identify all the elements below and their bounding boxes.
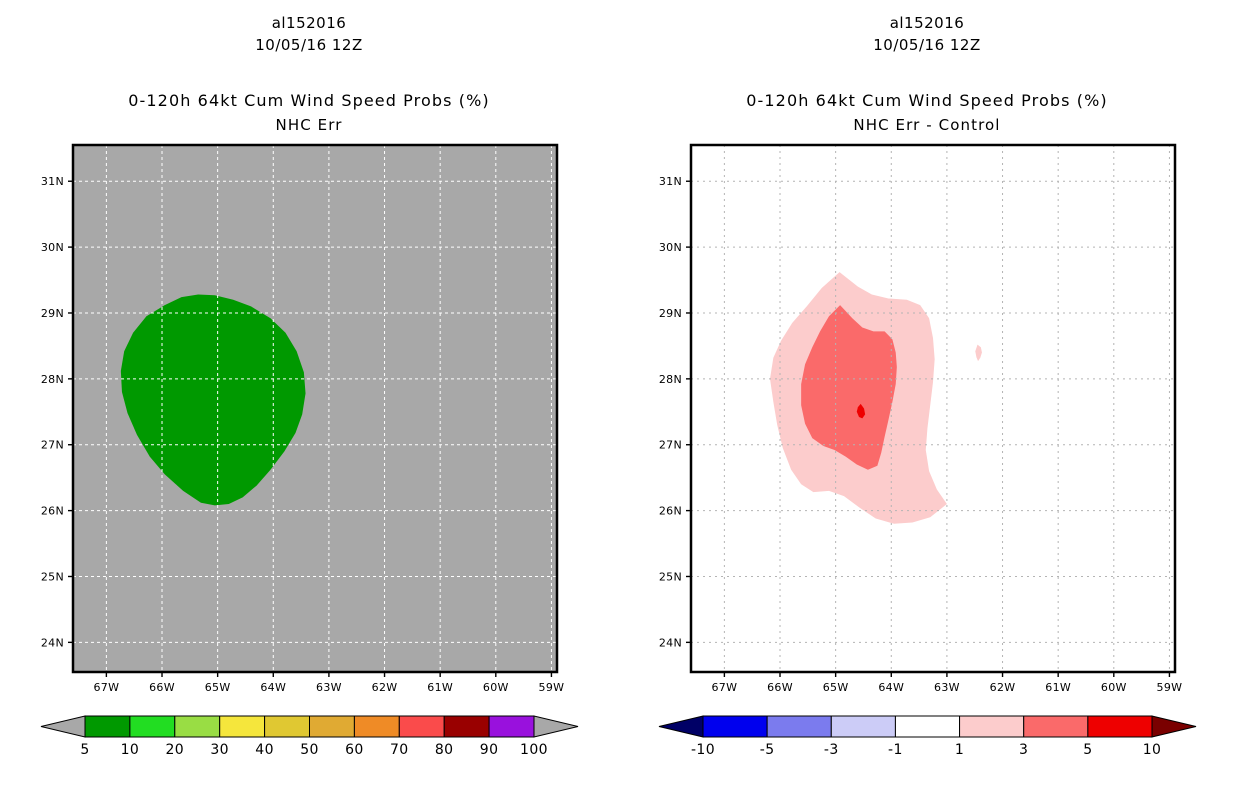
lat-tick-label: 27N [659, 439, 682, 452]
colorbar-segment [399, 716, 444, 737]
colorbar-tick-label: -10 [691, 742, 715, 758]
lat-tick-label: 28N [41, 373, 64, 386]
colorbar-cap-high [1152, 716, 1196, 737]
lon-tick-label: 66W [149, 681, 175, 694]
colorbar-tick-label: 10 [121, 742, 140, 758]
lat-tick-label: 30N [41, 241, 64, 254]
colorbar-cap-low [41, 716, 85, 737]
colorbar-tick-label: -3 [824, 742, 839, 758]
lon-tick-label: 63W [316, 681, 342, 694]
lat-tick-label: 29N [659, 307, 682, 320]
lon-tick-label: 65W [205, 681, 231, 694]
colorbar-tick-label: -5 [760, 742, 775, 758]
colorbar-tick-label: 3 [1019, 742, 1028, 758]
colorbar-tick-label: 40 [255, 742, 274, 758]
lon-tick-label: 60W [483, 681, 509, 694]
map-canvas-difference: 24N25N26N27N28N29N30N31N67W66W65W64W63W6… [618, 0, 1236, 760]
colorbar: -10-5-3-113510 [659, 716, 1196, 758]
colorbar-segment [85, 716, 130, 737]
lat-tick-label: 24N [659, 636, 682, 649]
colorbar-tick-label: 30 [210, 742, 229, 758]
colorbar-segment [220, 716, 265, 737]
lon-tick-label: 62W [372, 681, 398, 694]
colorbar-segment [310, 716, 355, 737]
lon-tick-label: 65W [823, 681, 849, 694]
colorbar-segment [175, 716, 220, 737]
colorbar-segment [354, 716, 399, 737]
colorbar-tick-label: 80 [435, 742, 454, 758]
lon-tick-label: 67W [711, 681, 737, 694]
colorbar-segment [831, 716, 895, 737]
lon-tick-label: 62W [990, 681, 1016, 694]
lon-tick-label: 61W [1045, 681, 1071, 694]
lon-tick-label: 59W [1157, 681, 1183, 694]
lat-tick-label: 30N [659, 241, 682, 254]
lon-tick-label: 67W [93, 681, 119, 694]
colorbar-segment [130, 716, 175, 737]
map-canvas-nhc-err: 24N25N26N27N28N29N30N31N67W66W65W64W63W6… [0, 0, 618, 760]
lat-tick-label: 26N [41, 505, 64, 518]
colorbar-cap-low [659, 716, 703, 737]
lat-tick-label: 31N [41, 175, 64, 188]
colorbar-segment [895, 716, 959, 737]
colorbar-tick-label: 70 [390, 742, 409, 758]
colorbar-tick-label: 1 [955, 742, 964, 758]
map-background [691, 145, 1175, 672]
lon-tick-label: 59W [539, 681, 565, 694]
colorbar-segment [444, 716, 489, 737]
colorbar-tick-label: 5 [1083, 742, 1092, 758]
colorbar-segment [960, 716, 1024, 737]
colorbar-tick-label: 5 [80, 742, 89, 758]
lat-tick-label: 24N [41, 636, 64, 649]
colorbar: 5102030405060708090100 [41, 716, 578, 758]
colorbar-segment [703, 716, 767, 737]
lat-tick-label: 27N [41, 439, 64, 452]
colorbar-cap-high [534, 716, 578, 737]
colorbar-tick-label: 50 [300, 742, 319, 758]
colorbar-segment [767, 716, 831, 737]
lat-tick-label: 25N [41, 570, 64, 583]
colorbar-tick-label: 60 [345, 742, 364, 758]
lon-tick-label: 66W [767, 681, 793, 694]
lat-tick-label: 25N [659, 570, 682, 583]
lon-tick-label: 60W [1101, 681, 1127, 694]
lon-tick-label: 64W [878, 681, 904, 694]
colorbar-segment [265, 716, 310, 737]
colorbar-tick-label: 20 [165, 742, 184, 758]
colorbar-tick-label: 100 [520, 742, 548, 758]
colorbar-tick-label: 90 [480, 742, 499, 758]
panel-nhc-err-minus-control: al152016 10/05/16 12Z 0-120h 64kt Cum Wi… [618, 0, 1236, 800]
lat-tick-label: 31N [659, 175, 682, 188]
colorbar-segment [1024, 716, 1088, 737]
colorbar-tick-label: 10 [1143, 742, 1162, 758]
colorbar-segment [1088, 716, 1152, 737]
colorbar-tick-label: -1 [888, 742, 903, 758]
lat-tick-label: 26N [659, 505, 682, 518]
colorbar-segment [489, 716, 534, 737]
lon-tick-label: 61W [427, 681, 453, 694]
panel-nhc-err: al152016 10/05/16 12Z 0-120h 64kt Cum Wi… [0, 0, 618, 800]
lon-tick-label: 64W [260, 681, 286, 694]
lat-tick-label: 29N [41, 307, 64, 320]
lat-tick-label: 28N [659, 373, 682, 386]
lon-tick-label: 63W [934, 681, 960, 694]
